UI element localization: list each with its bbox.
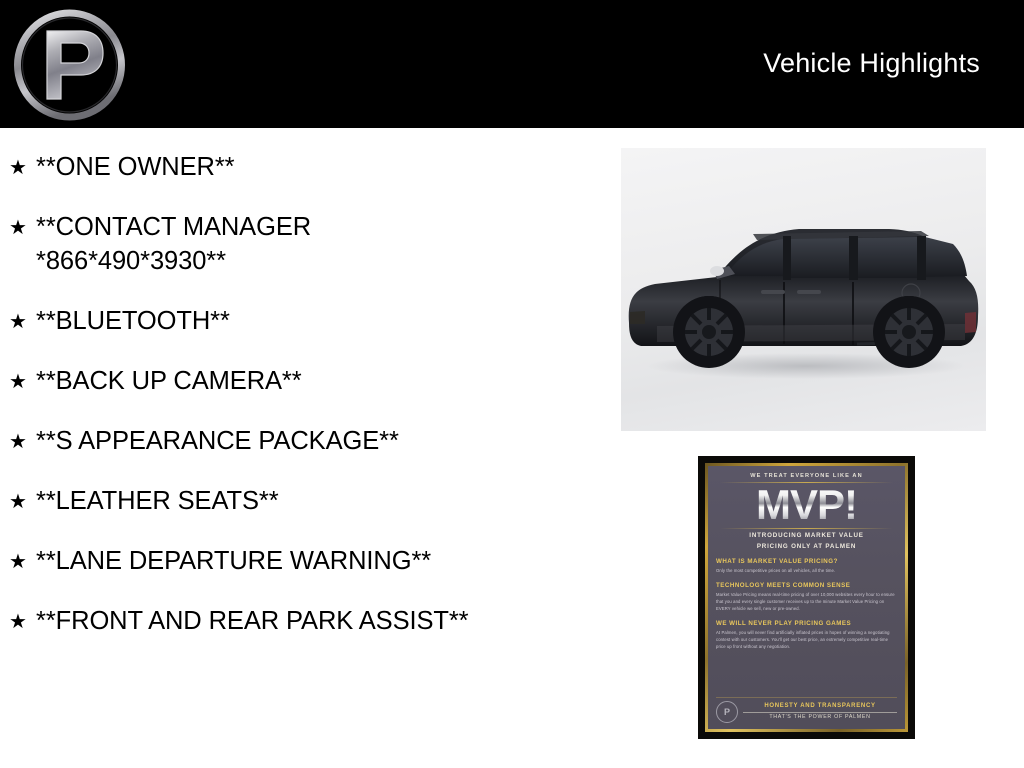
- poster-section-body: Only the most competitive prices on all …: [716, 568, 897, 575]
- poster-section-heading: TECHNOLOGY MEETS COMMON SENSE: [716, 582, 897, 590]
- poster-subhead-line2: PRICING ONLY AT PALMEN: [716, 542, 897, 552]
- poster-body: WE TREAT EVERYONE LIKE AN MVP! INTRODUCI…: [708, 466, 905, 729]
- poster-gold-border: WE TREAT EVERYONE LIKE AN MVP! INTRODUCI…: [705, 463, 908, 732]
- vehicle-photo: [621, 148, 986, 431]
- star-bullet-icon: ★: [0, 604, 36, 638]
- poster-footer-text: HONESTY AND TRANSPARENCY THAT'S THE POWE…: [743, 703, 897, 722]
- poster-sections: WHAT IS MARKET VALUE PRICING? Only the m…: [716, 558, 897, 697]
- star-bullet-icon: ★: [0, 544, 36, 578]
- star-bullet-icon: ★: [0, 424, 36, 458]
- star-bullet-icon: ★: [0, 150, 36, 184]
- page-header: Vehicle Highlights: [0, 0, 1024, 128]
- star-bullet-icon: ★: [0, 304, 36, 338]
- poster-footer: P HONESTY AND TRANSPARENCY THAT'S THE PO…: [716, 697, 897, 723]
- star-bullet-icon: ★: [0, 210, 36, 244]
- list-item: ★ **LANE DEPARTURE WARNING**: [0, 544, 610, 578]
- list-item: ★ **ONE OWNER**: [0, 150, 610, 184]
- highlight-text: **BLUETOOTH**: [36, 304, 610, 338]
- poster-section-body: Market Value Pricing means real-time pri…: [716, 592, 897, 613]
- highlight-text: **LEATHER SEATS**: [36, 484, 610, 518]
- poster-section: WHAT IS MARKET VALUE PRICING? Only the m…: [716, 558, 897, 575]
- palmen-seal-icon: P: [716, 701, 738, 723]
- poster-section-body: At Palmen, you will never find artificia…: [716, 630, 897, 651]
- poster-eyebrow: WE TREAT EVERYONE LIKE AN: [716, 473, 897, 480]
- list-item: ★ **BACK UP CAMERA**: [0, 364, 610, 398]
- page-title: Vehicle Highlights: [763, 50, 980, 77]
- highlight-text: **CONTACT MANAGER *866*490*3930**: [36, 210, 610, 278]
- poster-section-heading: WHAT IS MARKET VALUE PRICING?: [716, 558, 897, 566]
- list-item: ★ **CONTACT MANAGER *866*490*3930**: [0, 210, 610, 278]
- poster-section: WE WILL NEVER PLAY PRICING GAMES At Palm…: [716, 620, 897, 651]
- poster-section-heading: WE WILL NEVER PLAY PRICING GAMES: [716, 620, 897, 628]
- list-item: ★ **BLUETOOTH**: [0, 304, 610, 338]
- poster-subhead-line1: INTRODUCING MARKET VALUE: [716, 531, 897, 541]
- poster-footer-line2: THAT'S THE POWER OF PALMEN: [743, 714, 897, 721]
- highlight-text: **FRONT AND REAR PARK ASSIST**: [36, 604, 610, 638]
- mvp-pricing-poster: WE TREAT EVERYONE LIKE AN MVP! INTRODUCI…: [698, 456, 915, 739]
- vehicle-highlights-list: ★ **ONE OWNER** ★ **CONTACT MANAGER *866…: [0, 128, 610, 664]
- highlight-text: **ONE OWNER**: [36, 150, 610, 184]
- highlight-text: **BACK UP CAMERA**: [36, 364, 610, 398]
- poster-wordmark: MVP!: [716, 485, 897, 525]
- star-bullet-icon: ★: [0, 484, 36, 518]
- palmen-p-logo-icon: [11, 7, 128, 123]
- poster-section: TECHNOLOGY MEETS COMMON SENSE Market Val…: [716, 582, 897, 613]
- poster-footer-line1: HONESTY AND TRANSPARENCY: [743, 703, 897, 711]
- list-item: ★ **S APPEARANCE PACKAGE**: [0, 424, 610, 458]
- poster-footer-divider: [743, 712, 897, 713]
- list-item: ★ **FRONT AND REAR PARK ASSIST**: [0, 604, 610, 638]
- highlight-text: **S APPEARANCE PACKAGE**: [36, 424, 610, 458]
- star-bullet-icon: ★: [0, 364, 36, 398]
- highlight-text: **LANE DEPARTURE WARNING**: [36, 544, 610, 578]
- list-item: ★ **LEATHER SEATS**: [0, 484, 610, 518]
- poster-divider-mid: [720, 528, 893, 529]
